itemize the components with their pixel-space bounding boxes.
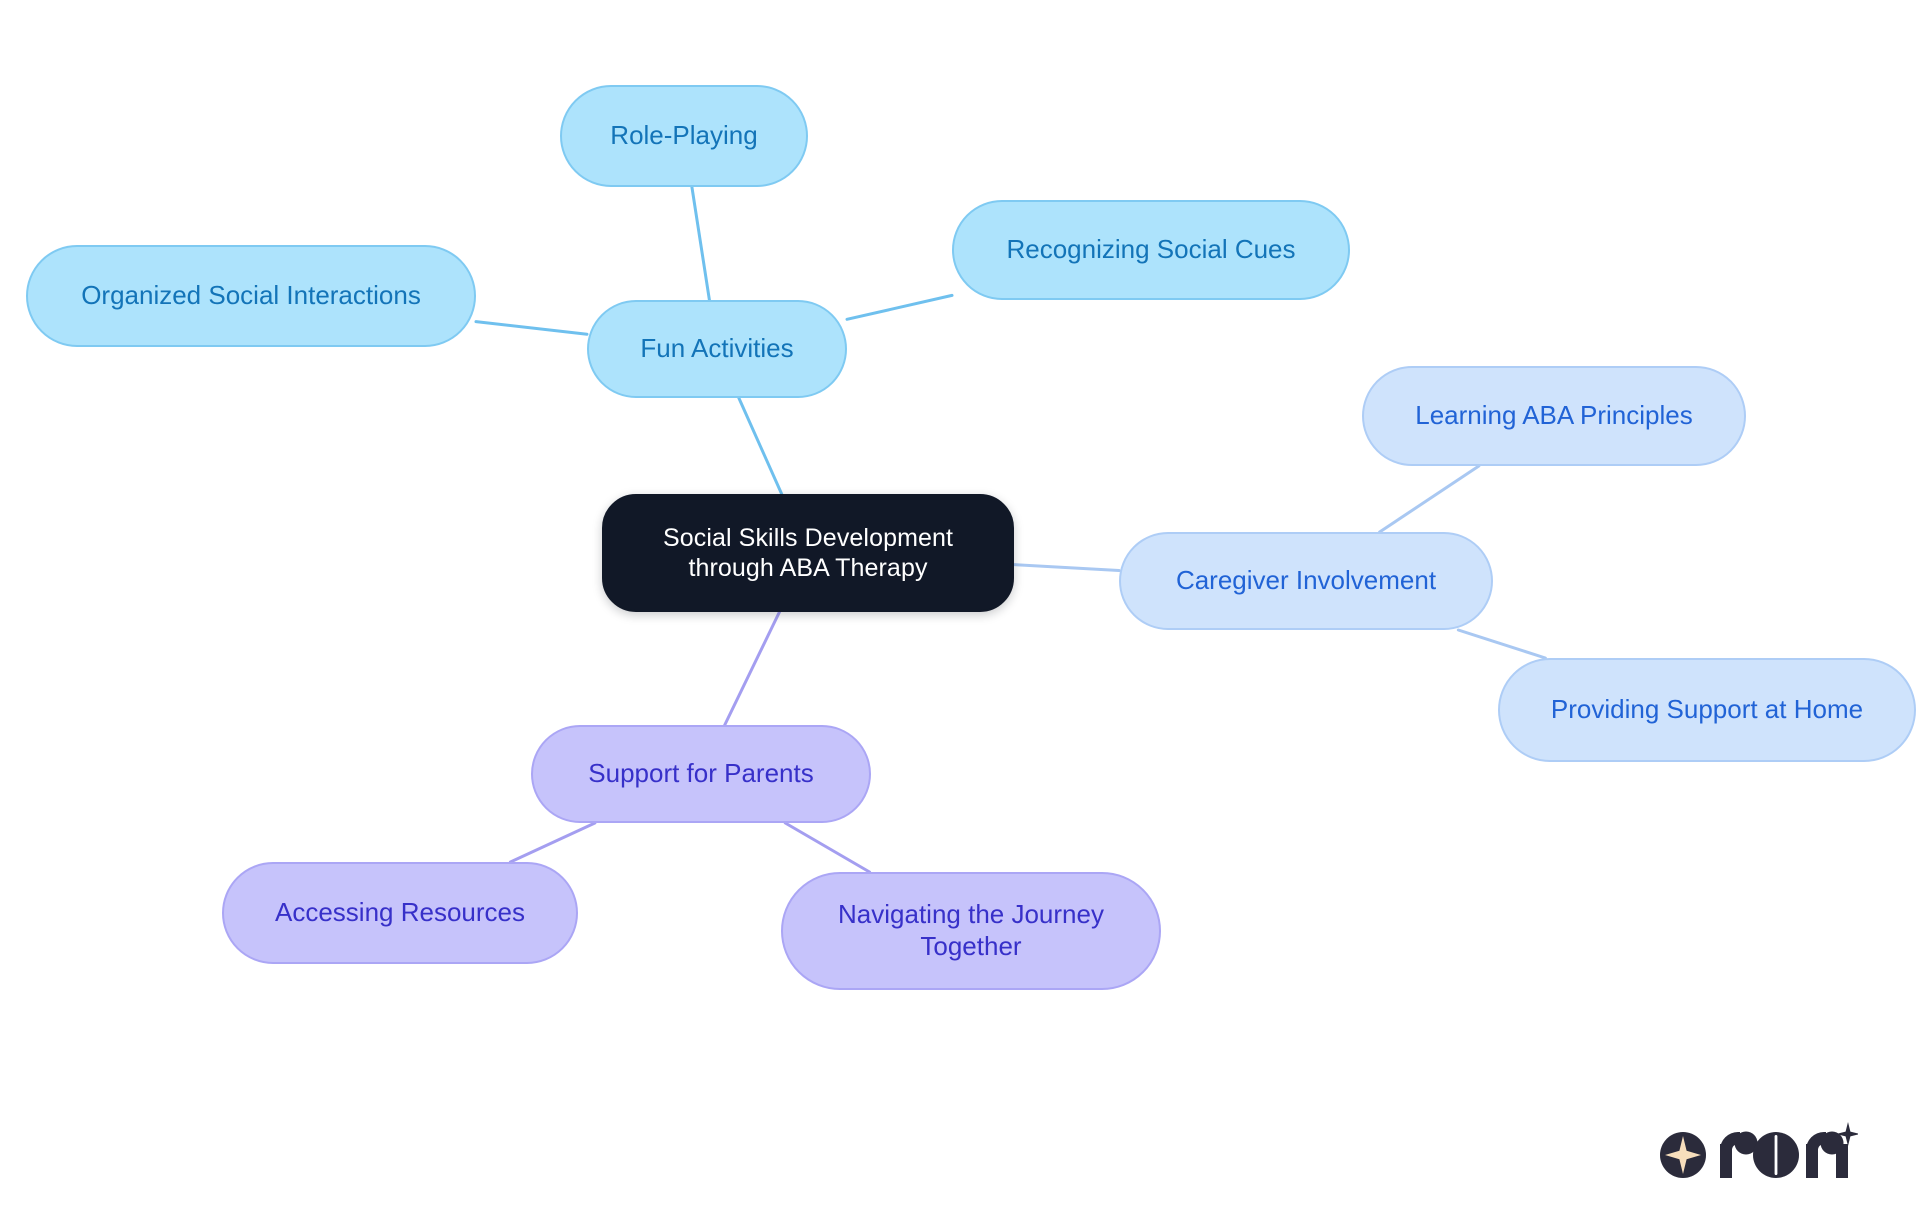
node-organized-social-interactions[interactable]: Organized Social Interactions (26, 245, 476, 347)
node-label: Accessing Resources (275, 897, 525, 929)
edge-support-for-parents-to-navigating-the-journey-together (785, 823, 869, 872)
logo-wordmark (1720, 1122, 1858, 1178)
node-recognizing-social-cues[interactable]: Recognizing Social Cues (952, 200, 1350, 300)
node-support-for-parents[interactable]: Support for Parents (531, 725, 871, 823)
node-navigating-the-journey-together[interactable]: Navigating the Journey Together (781, 872, 1161, 990)
node-label: Organized Social Interactions (81, 280, 421, 312)
edge-fun-activities-to-recognizing-social-cues (847, 295, 952, 319)
edge-caregiver-involvement-to-providing-support-at-home (1458, 630, 1545, 658)
logo-sparkle-circle-icon (1660, 1132, 1706, 1178)
node-label: Learning ABA Principles (1415, 400, 1693, 432)
node-label: Recognizing Social Cues (1006, 234, 1295, 266)
node-label: Fun Activities (640, 333, 793, 365)
node-providing-support-at-home[interactable]: Providing Support at Home (1498, 658, 1916, 762)
node-label: Social Skills Development through ABA Th… (663, 523, 953, 584)
node-label: Role-Playing (610, 120, 757, 152)
edge-fun-activities-to-organized-social-interactions (476, 322, 587, 335)
node-role-playing[interactable]: Role-Playing (560, 85, 808, 187)
edge-root-to-fun-activities (739, 398, 782, 494)
edge-root-to-caregiver-involvement (1014, 565, 1119, 571)
node-label: Support for Parents (588, 758, 813, 790)
root-node[interactable]: Social Skills Development through ABA Th… (602, 494, 1014, 612)
node-fun-activities[interactable]: Fun Activities (587, 300, 847, 398)
node-accessing-resources[interactable]: Accessing Resources (222, 862, 578, 964)
logo-letter-o (1753, 1132, 1799, 1178)
node-label: Caregiver Involvement (1176, 565, 1436, 597)
edge-root-to-support-for-parents (725, 612, 780, 725)
node-label: Navigating the Journey Together (838, 899, 1104, 962)
mindmap-canvas: Social Skills Development through ABA Th… (0, 0, 1920, 1215)
edge-support-for-parents-to-accessing-resources (510, 823, 594, 862)
edge-fun-activities-to-role-playing (692, 187, 710, 300)
edge-caregiver-involvement-to-learning-aba-principles (1380, 466, 1479, 532)
node-caregiver-involvement[interactable]: Caregiver Involvement (1119, 532, 1493, 630)
node-label: Providing Support at Home (1551, 694, 1863, 726)
rori-logo (1658, 1120, 1858, 1186)
node-learning-aba-principles[interactable]: Learning ABA Principles (1362, 366, 1746, 466)
